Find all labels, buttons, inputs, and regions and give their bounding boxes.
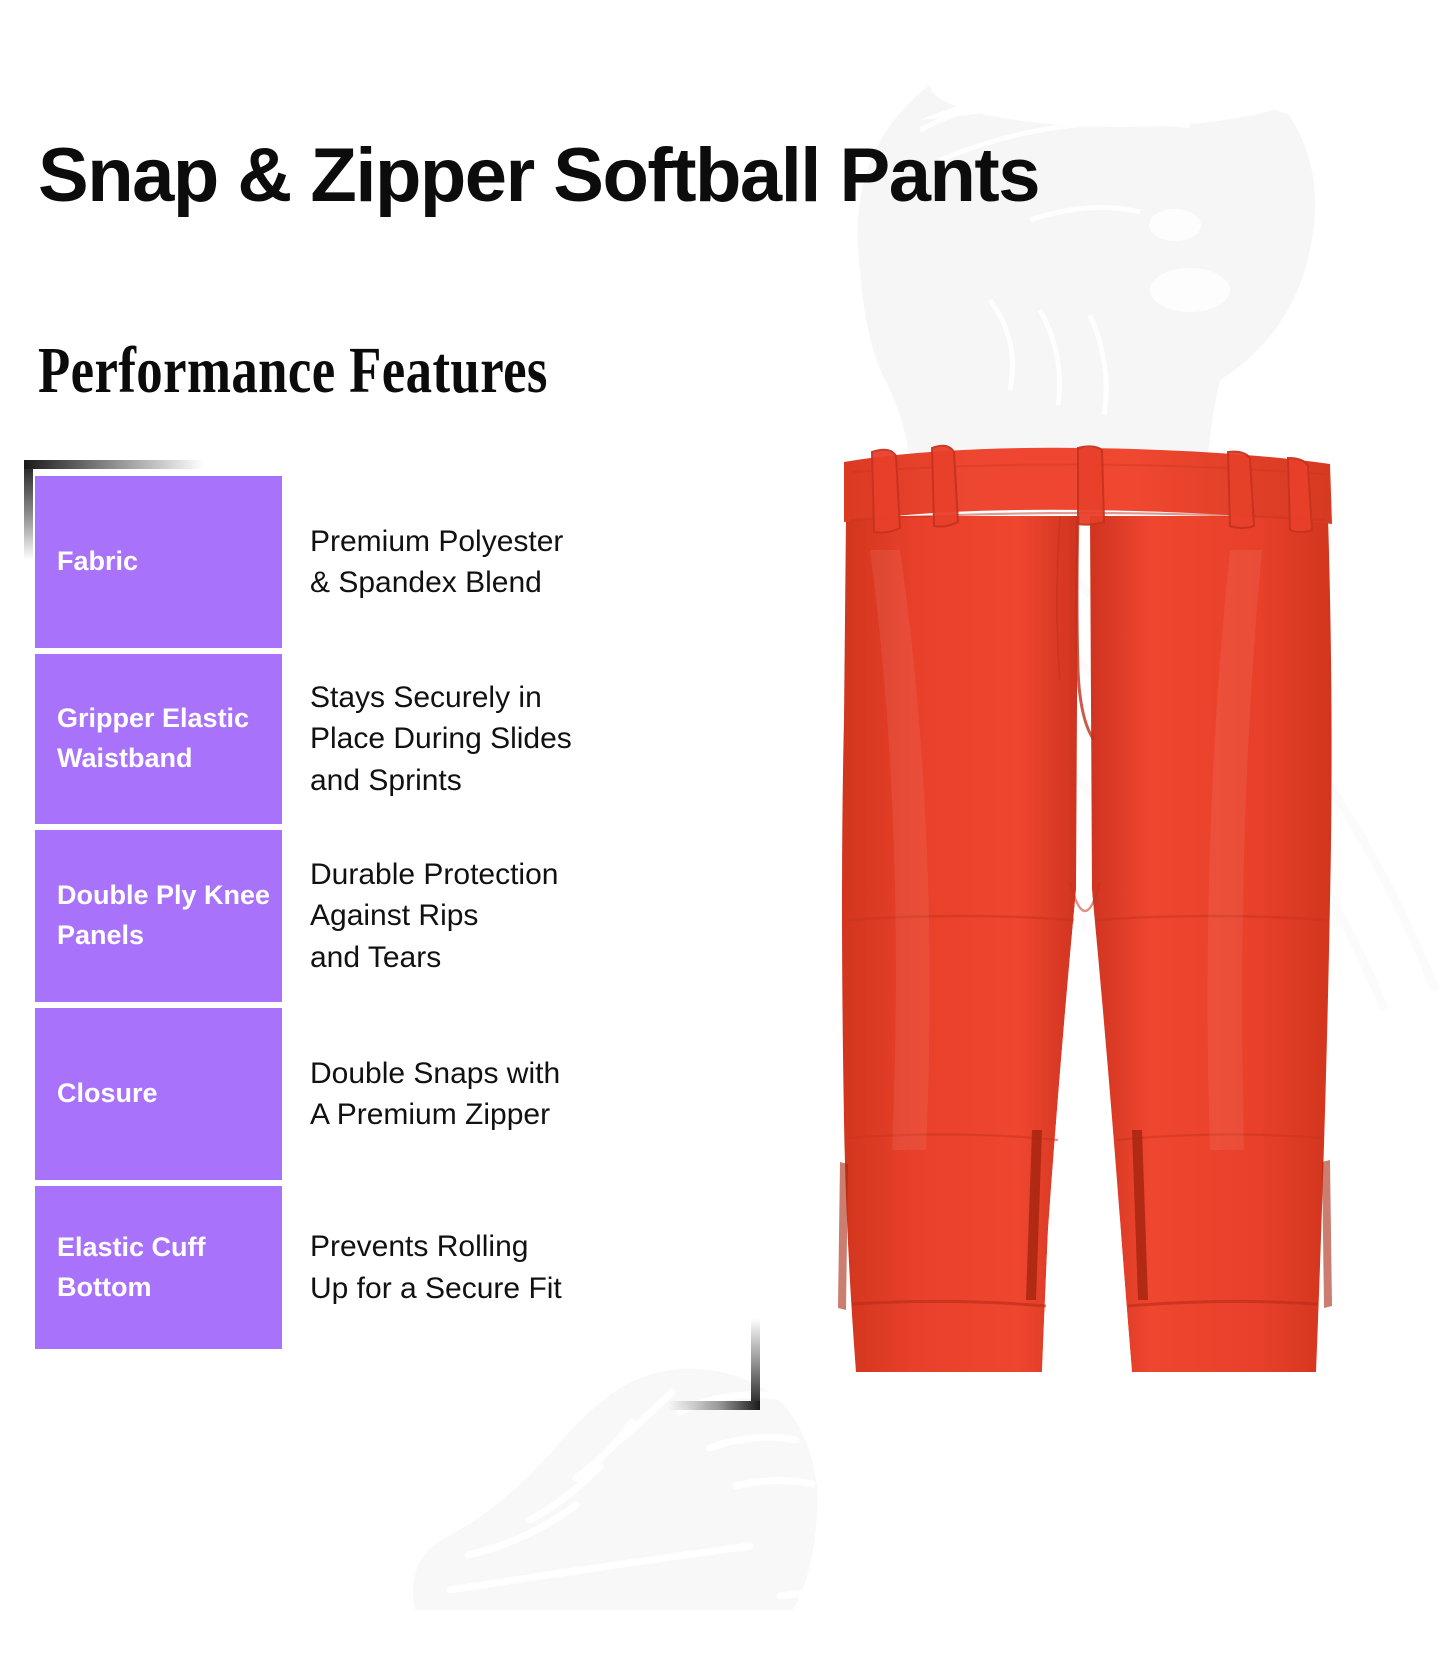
bracket-vertical-stroke [751,1318,760,1410]
product-photo-softball-pants [760,420,1420,1410]
bracket-horizontal-stroke [24,460,204,469]
watermark-player-illustration [560,0,1440,490]
table-row: Elastic Cuff Bottom Prevents Rolling Up … [35,1186,725,1349]
bracket-horizontal-stroke [668,1401,760,1410]
table-row: Gripper Elastic Waistband Stays Securely… [35,654,725,824]
feature-description-double-ply-knee-panels: Durable Protection Against Rips and Tear… [282,830,725,1002]
table-row: Fabric Premium Polyester & Spandex Blend [35,476,725,648]
table-row: Double Ply Knee Panels Durable Protectio… [35,830,725,1002]
feature-label-gripper-elastic-waistband: Gripper Elastic Waistband [35,654,282,824]
section-title: Performance Features [38,338,548,404]
table-row: Closure Double Snaps with A Premium Zipp… [35,1008,725,1180]
feature-description-closure: Double Snaps with A Premium Zipper [282,1008,725,1180]
feature-label-elastic-cuff-bottom: Elastic Cuff Bottom [35,1186,282,1349]
feature-label-closure: Closure [35,1008,282,1180]
feature-description-elastic-cuff-bottom: Prevents Rolling Up for a Secure Fit [282,1186,725,1349]
feature-description-fabric: Premium Polyester & Spandex Blend [282,476,725,648]
feature-description-gripper-elastic-waistband: Stays Securely in Place During Slides an… [282,654,725,824]
feature-label-double-ply-knee-panels: Double Ply Knee Panels [35,830,282,1002]
belt-loops [872,446,1312,533]
page-title: Snap & Zipper Softball Pants [38,137,1368,215]
performance-features-table: Fabric Premium Polyester & Spandex Blend… [35,476,725,1349]
bracket-vertical-stroke [24,460,33,560]
feature-label-fabric: Fabric [35,476,282,648]
